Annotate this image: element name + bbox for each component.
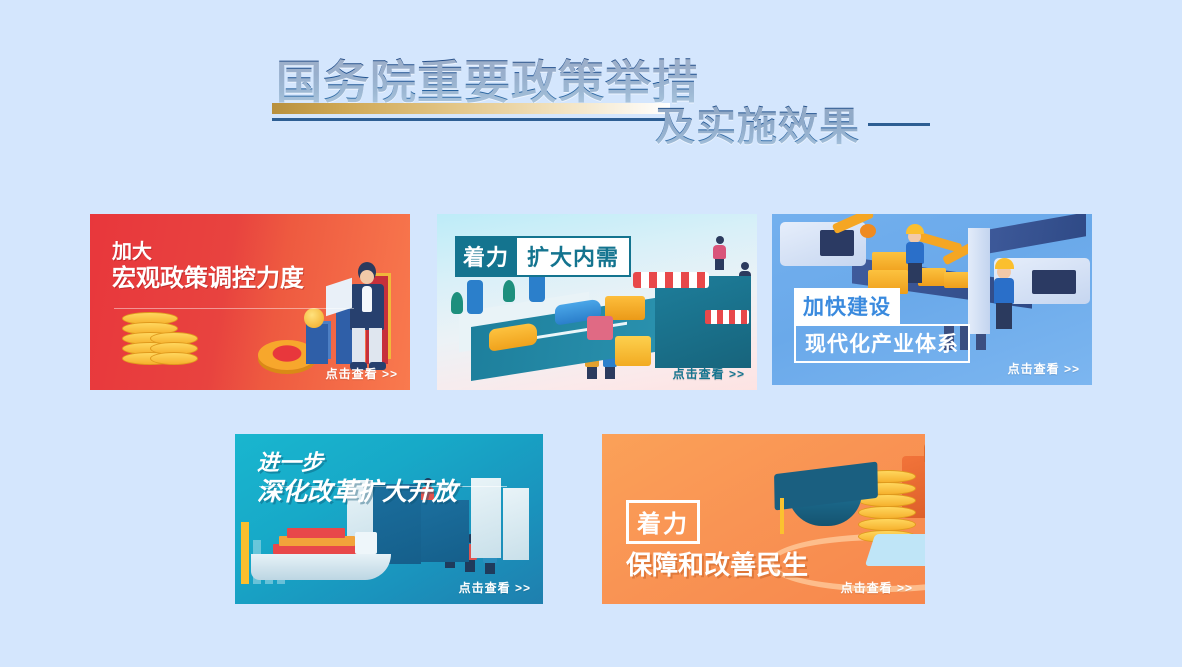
- title-right-dash: [868, 123, 930, 126]
- briefcase-handle: [924, 440, 925, 462]
- card-modern-industry[interactable]: 加快建设 现代化产业体系 点击查看 >>: [772, 214, 1092, 385]
- page-title: 国务院重要政策举措: [276, 56, 699, 108]
- card-title-line2: 深化改革扩大开放: [257, 478, 457, 506]
- card-illustration: 加大 宏观政策调控力度: [90, 214, 410, 390]
- exhibition-booth: [503, 488, 529, 560]
- exhibition-booth: [471, 478, 501, 558]
- awning-icon: [705, 310, 749, 324]
- card-title: 加大 宏观政策调控力度: [112, 240, 304, 294]
- graduation-tassel: [780, 498, 784, 534]
- exhibition-booth: [421, 500, 469, 562]
- card-cta-link[interactable]: 点击查看 >>: [459, 579, 531, 596]
- bar-chart-bar: [306, 324, 328, 364]
- machine-screen: [820, 230, 854, 256]
- card-reform-opening[interactable]: 进一步 深化改革扩大开放 点击查看 >>: [235, 434, 543, 604]
- card-title-line1: 进一步: [257, 450, 323, 475]
- card-title-line2: 现代化产业体系: [794, 324, 970, 363]
- card-title-line2: 宏观政策调控力度: [112, 265, 304, 292]
- cargo-ship-icon: [251, 532, 391, 580]
- package-icon: [615, 336, 651, 366]
- page-header: 国务院重要政策举措 及实施效果: [0, 0, 1182, 185]
- title-blue-underline: [272, 118, 670, 121]
- control-pillar: [968, 228, 990, 334]
- card-cta-link[interactable]: 点击查看 >>: [1008, 360, 1080, 377]
- title-divider: [114, 308, 354, 309]
- businessman-figure: [342, 262, 396, 372]
- card-title-line1: 加大: [112, 241, 152, 263]
- overhead-rail: [976, 214, 1086, 256]
- title-gold-underline: [272, 103, 670, 114]
- tree-icon: [451, 292, 463, 314]
- card-cta-link[interactable]: 点击查看 >>: [841, 579, 913, 596]
- pill-blister-icon: [865, 534, 925, 566]
- machine-screen: [1032, 270, 1076, 294]
- card-title: 进一步 深化改革扩大开放: [257, 450, 457, 507]
- person-figure: [713, 236, 726, 268]
- page-subtitle: 及实施效果: [655, 104, 860, 150]
- single-coin-icon: [304, 308, 324, 328]
- card-title-line1: 加快建设: [794, 288, 900, 325]
- tree-icon: [503, 280, 515, 302]
- shopping-bag-icon: [587, 316, 613, 340]
- charging-pole-icon: [467, 280, 483, 314]
- worker-figure: [994, 258, 1014, 326]
- card-title-line2: 保障和改善民生: [626, 550, 808, 582]
- coin-stack-small-icon: [150, 332, 198, 374]
- card-expand-demand[interactable]: 着力 扩大内需 点击查看 >>: [437, 214, 757, 390]
- card-title-rest: 扩大内需: [517, 236, 631, 277]
- page-root: 国务院重要政策举措 及实施效果: [0, 0, 1182, 667]
- robot-joint: [860, 224, 876, 238]
- card-illustration: 着力 扩大内需: [437, 214, 757, 390]
- card-title: 着力 扩大内需: [455, 236, 631, 277]
- card-cta-link[interactable]: 点击查看 >>: [326, 365, 398, 382]
- card-livelihood[interactable]: 着力 保障和改善民生 点击查看 >>: [602, 434, 925, 604]
- card-title-badge: 着力: [626, 500, 700, 544]
- crate-icon: [944, 272, 970, 288]
- card-title-badge: 着力: [455, 236, 517, 277]
- worker-figure: [906, 224, 924, 280]
- card-macro-policy[interactable]: 加大 宏观政策调控力度 点击查看 >>: [90, 214, 410, 390]
- card-cta-link[interactable]: 点击查看 >>: [673, 365, 745, 382]
- awning-icon: [633, 272, 709, 288]
